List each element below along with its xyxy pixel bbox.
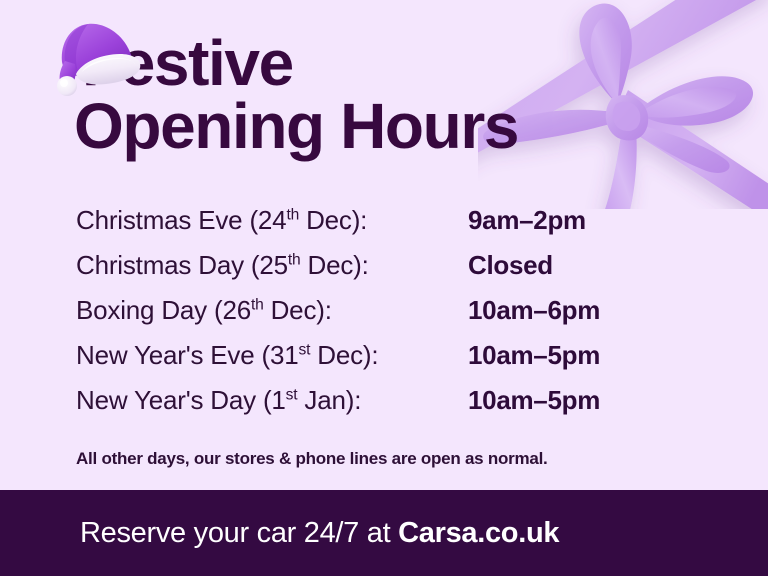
hours-row: Christmas Eve (24th Dec): 9am–2pm bbox=[76, 205, 706, 250]
hours-row: Boxing Day (26th Dec): 10am–6pm bbox=[76, 295, 706, 340]
day-label-ordinal: st bbox=[299, 341, 311, 358]
page-title-line-2: Opening Hours bbox=[74, 95, 518, 158]
gift-ribbon-bow-icon bbox=[478, 0, 768, 209]
opening-hours-list: Christmas Eve (24th Dec): 9am–2pm Christ… bbox=[76, 205, 706, 430]
day-label-prefix: New Year's Day (1 bbox=[76, 385, 286, 415]
brand-name: Carsa.co.uk bbox=[398, 517, 559, 549]
footnote-text: All other days, our stores & phone lines… bbox=[76, 449, 548, 469]
day-hours-value: 10am–5pm bbox=[468, 385, 600, 416]
day-hours-value: 10am–5pm bbox=[468, 340, 600, 371]
day-hours-value: 9am–2pm bbox=[468, 205, 586, 236]
day-label-prefix: New Year's Eve (31 bbox=[76, 340, 299, 370]
day-label: Christmas Day (25th Dec): bbox=[76, 250, 468, 281]
day-label-ordinal: st bbox=[286, 386, 298, 403]
day-label-suffix: Jan): bbox=[297, 385, 361, 415]
hours-row: New Year's Eve (31st Dec): 10am–5pm bbox=[76, 340, 706, 385]
day-hours-value: 10am–6pm bbox=[468, 295, 600, 326]
hours-row: New Year's Day (1st Jan): 10am–5pm bbox=[76, 385, 706, 430]
banner-message: Reserve your car 24/7 at Carsa.co.uk bbox=[80, 517, 559, 550]
day-label-prefix: Christmas Day (25 bbox=[76, 250, 288, 280]
page-title: Festive Opening Hours bbox=[74, 32, 518, 159]
banner-lead-text: Reserve your car 24/7 at bbox=[80, 517, 398, 549]
day-label-suffix: Dec): bbox=[299, 205, 367, 235]
page-title-line-1: Festive bbox=[74, 32, 518, 95]
day-label: New Year's Eve (31st Dec): bbox=[76, 340, 468, 371]
hours-row: Christmas Day (25th Dec): Closed bbox=[76, 250, 706, 295]
day-label: New Year's Day (1st Jan): bbox=[76, 385, 468, 416]
day-hours-value: Closed bbox=[468, 250, 553, 281]
day-label-ordinal: th bbox=[288, 251, 301, 268]
day-label-prefix: Christmas Eve (24 bbox=[76, 205, 286, 235]
festive-opening-hours-poster: Festive Opening Hours Christmas Eve (24t… bbox=[0, 0, 768, 576]
day-label-suffix: Dec): bbox=[300, 250, 368, 280]
day-label-prefix: Boxing Day (26 bbox=[76, 295, 251, 325]
bottom-banner: Reserve your car 24/7 at Carsa.co.uk bbox=[0, 490, 768, 576]
day-label-suffix: Dec): bbox=[264, 295, 332, 325]
day-label: Christmas Eve (24th Dec): bbox=[76, 205, 468, 236]
day-label-ordinal: th bbox=[251, 296, 264, 313]
day-label: Boxing Day (26th Dec): bbox=[76, 295, 468, 326]
day-label-ordinal: th bbox=[286, 206, 299, 223]
day-label-suffix: Dec): bbox=[310, 340, 378, 370]
